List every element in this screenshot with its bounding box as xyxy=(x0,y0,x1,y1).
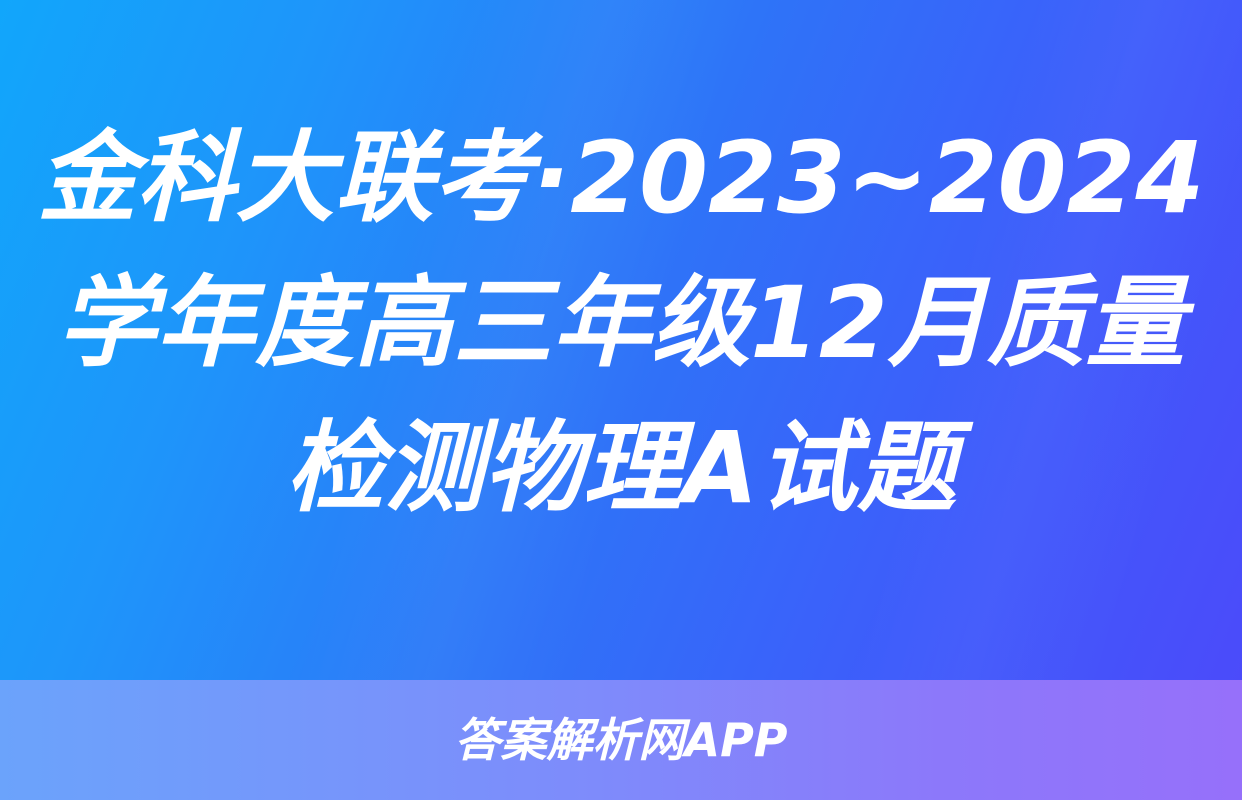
exam-paper-cover: 金科大联考·2023~2024 学年度高三年级12月质量 检测物理A试题 答案解… xyxy=(0,0,1242,800)
hero-gradient-background: 金科大联考·2023~2024 学年度高三年级12月质量 检测物理A试题 xyxy=(0,0,1242,680)
title-line-3: 检测物理A试题 xyxy=(286,396,957,541)
title-line-2: 学年度高三年级12月质量 xyxy=(57,251,1185,396)
watermark-text: 答案解析网APP xyxy=(454,717,787,763)
page-title: 金科大联考·2023~2024 学年度高三年级12月质量 检测物理A试题 xyxy=(0,0,1242,680)
footer-watermark-band: 答案解析网APP xyxy=(0,680,1242,800)
title-line-1: 金科大联考·2023~2024 xyxy=(38,106,1205,251)
